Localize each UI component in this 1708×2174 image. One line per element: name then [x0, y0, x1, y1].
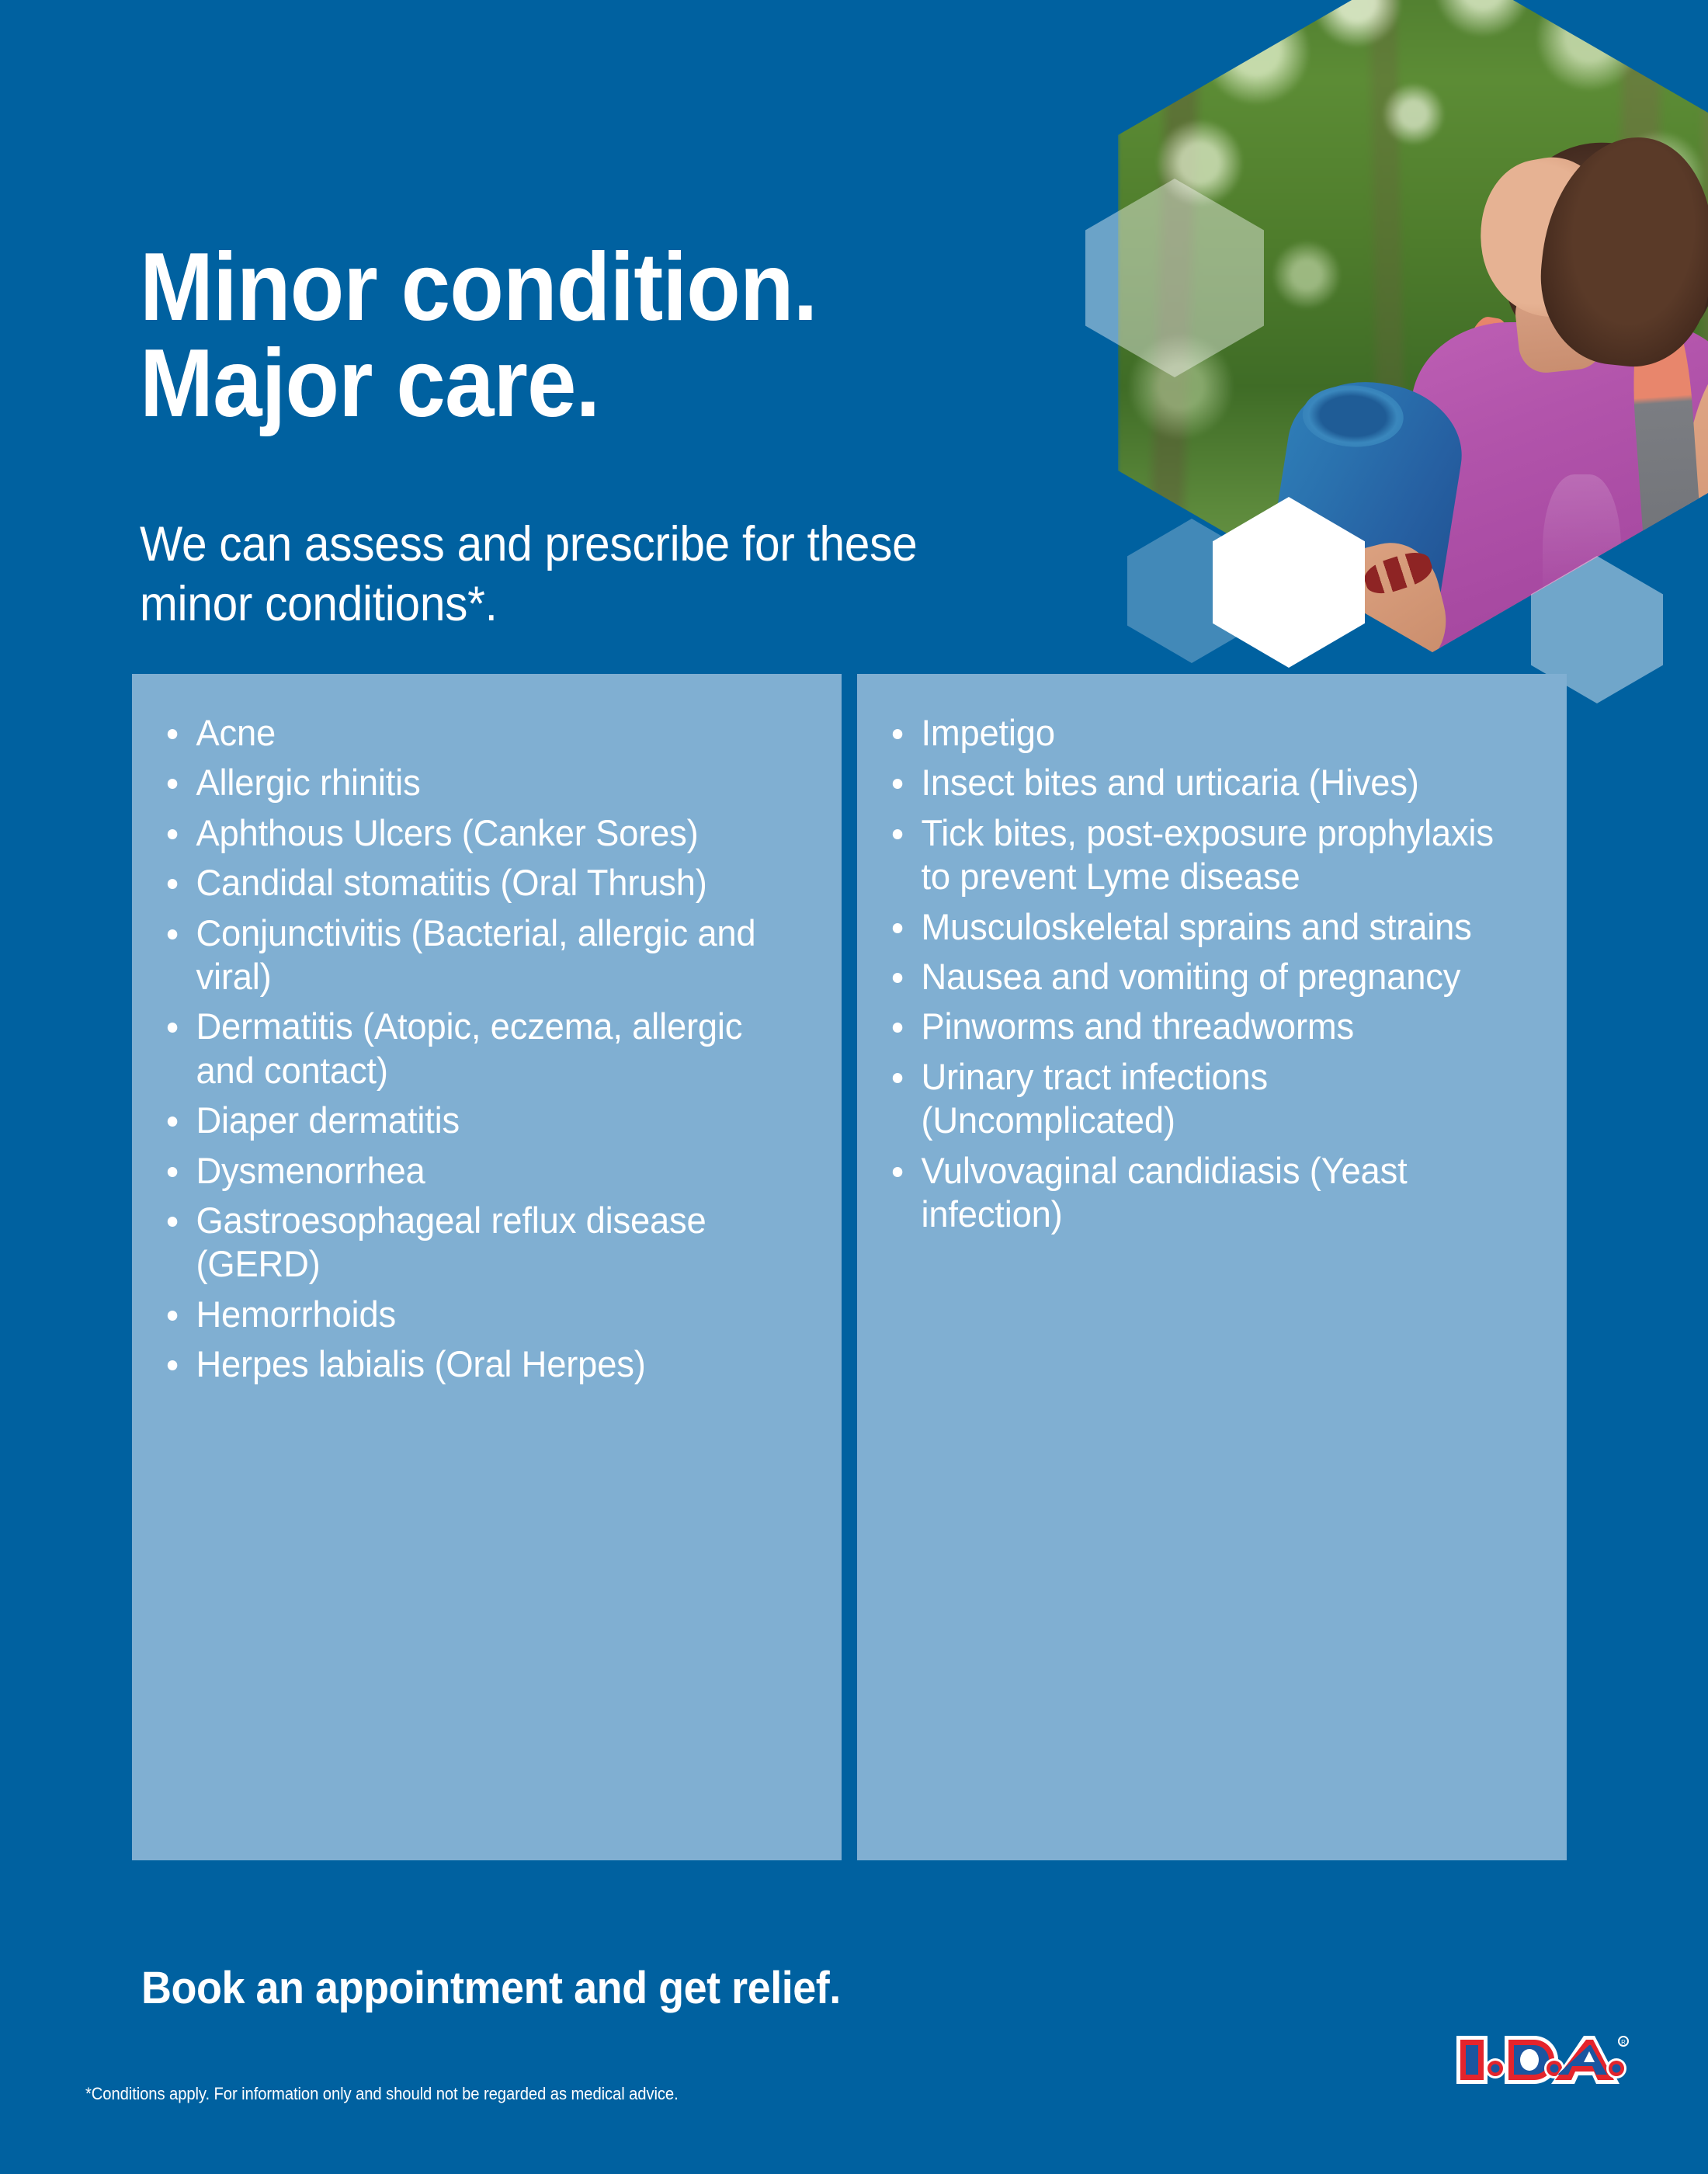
poster-root: Minor condition. Major care. We can asse…: [0, 0, 1708, 2174]
conditions-list-left: AcneAllergic rhinitisAphthous Ulcers (Ca…: [163, 711, 811, 1386]
condition-list-item: Candidal stomatitis (Oral Thrush): [163, 861, 788, 905]
conditions-panel-left: AcneAllergic rhinitisAphthous Ulcers (Ca…: [132, 674, 842, 1860]
condition-list-item: Hemorrhoids: [163, 1293, 788, 1336]
condition-list-item: Vulvovaginal candidiasis (Yeast infectio…: [888, 1149, 1513, 1237]
conditions-panels: AcneAllergic rhinitisAphthous Ulcers (Ca…: [132, 674, 1567, 1860]
svg-text:R: R: [1621, 2039, 1626, 2046]
condition-list-item: Dysmenorrhea: [163, 1149, 788, 1193]
condition-list-item: Urinary tract infections (Uncomplicated): [888, 1055, 1513, 1143]
conditions-panel-right: ImpetigoInsect bites and urticaria (Hive…: [857, 674, 1567, 1860]
headline-line-2: Major care.: [140, 335, 983, 432]
condition-list-item: Gastroesophageal reflux disease (GERD): [163, 1199, 788, 1287]
condition-list-item: Allergic rhinitis: [163, 761, 788, 804]
headline-line-1: Minor condition.: [140, 234, 817, 341]
condition-list-item: Diaper dermatitis: [163, 1099, 788, 1142]
subheading-line-1: We can assess and prescribe for these: [140, 517, 917, 571]
condition-list-item: Tick bites, post-exposure prophylaxis to…: [888, 811, 1513, 899]
condition-list-item: Dermatitis (Atopic, eczema, allergic and…: [163, 1005, 788, 1092]
condition-list-item: Insect bites and urticaria (Hives): [888, 761, 1513, 804]
subheading-line-2: minor conditions*.: [140, 577, 498, 631]
yoga-mat-core: [1301, 383, 1405, 449]
conditions-list-right: ImpetigoInsect bites and urticaria (Hive…: [888, 711, 1536, 1236]
ida-logo: R: [1446, 2028, 1640, 2093]
condition-list-item: Nausea and vomiting of pregnancy: [888, 955, 1513, 998]
subheading: We can assess and prescribe for these mi…: [140, 515, 999, 634]
cta-text: Book an appointment and get relief.: [141, 1962, 841, 2014]
condition-list-item: Herpes labialis (Oral Herpes): [163, 1342, 788, 1386]
legal-disclaimer: *Conditions apply. For information only …: [85, 2084, 679, 2104]
condition-list-item: Acne: [163, 711, 788, 755]
condition-list-item: Conjunctivitis (Bacterial, allergic and …: [163, 912, 788, 999]
page-title: Minor condition. Major care.: [140, 239, 983, 432]
condition-list-item: Aphthous Ulcers (Canker Sores): [163, 811, 788, 855]
condition-list-item: Musculoskeletal sprains and strains: [888, 905, 1513, 949]
condition-list-item: Pinworms and threadworms: [888, 1005, 1513, 1048]
condition-list-item: Impetigo: [888, 711, 1513, 755]
